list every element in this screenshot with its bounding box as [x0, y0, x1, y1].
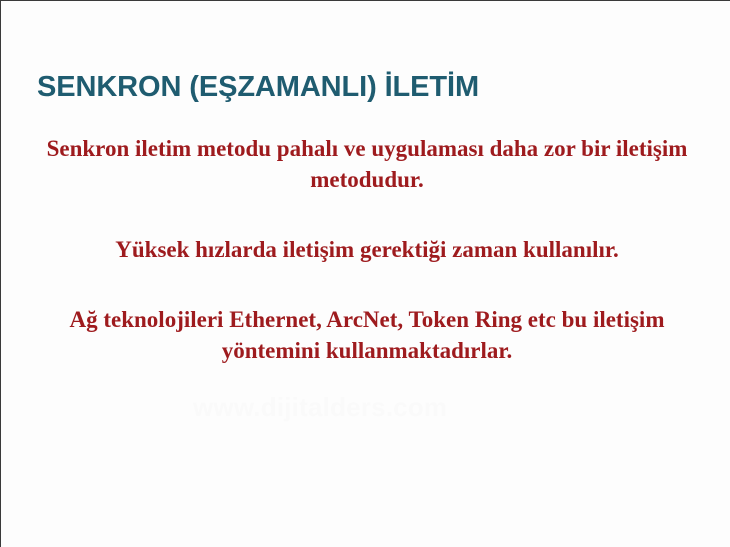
body-paragraph-2: Yüksek hızlarda iletişim gerektiği zaman…	[41, 234, 693, 265]
page-title: SENKRON (EŞZAMANLI) İLETİM	[37, 70, 697, 104]
presentation-slide: SENKRON (EŞZAMANLI) İLETİM Senkron ileti…	[0, 0, 730, 547]
body-paragraph-1: Senkron iletim metodu pahalı ve uygulama…	[41, 133, 693, 195]
watermark-text: www.dijitalders.com	[193, 393, 493, 421]
slide-body: Senkron iletim metodu pahalı ve uygulama…	[41, 133, 693, 366]
body-paragraph-3: Ağ teknolojileri Ethernet, ArcNet, Token…	[41, 304, 693, 366]
